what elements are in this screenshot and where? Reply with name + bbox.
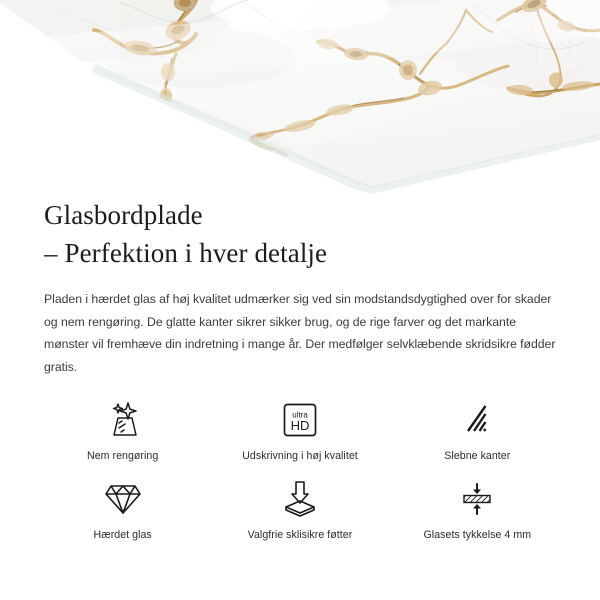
hero-product-image: [0, 0, 600, 200]
ultra-hd-badge-bottom: HD: [291, 418, 310, 433]
feature-item-tempered-glass: Hærdet glas: [34, 478, 211, 558]
feature-item-thickness: Glasets tykkelse 4 mm: [389, 478, 566, 558]
polished-edge-icon: [458, 398, 496, 442]
product-description: Pladen i hærdet glas af høj kvalitet udm…: [0, 288, 600, 378]
feature-item-ultra-hd: ultra HD Udskrivning i høj kvalitet: [211, 398, 388, 478]
feature-item-easy-cleaning: Nem rengøring: [34, 398, 211, 478]
page-title: Glasbordplade – Perfektion i hver detalj…: [0, 196, 600, 272]
glass-tabletop-illustration: [0, 0, 600, 200]
product-copy-block: Glasbordplade – Perfektion i hver detalj…: [0, 196, 600, 378]
feature-grid: Nem rengøring ultra HD Udskrivning i høj…: [34, 398, 566, 558]
thickness-icon: [457, 478, 497, 520]
headline-line-1: Glasbordplade: [44, 200, 203, 230]
feature-label: Nem rengøring: [87, 450, 158, 462]
anti-slip-feet-icon: [280, 478, 320, 520]
feature-label: Glasets tykkelse 4 mm: [424, 529, 532, 541]
feature-label: Udskrivning i høj kvalitet: [242, 450, 358, 462]
sparkle-surface-icon: [103, 398, 143, 442]
diamond-icon: [103, 478, 143, 520]
feature-label: Slebne kanter: [444, 450, 510, 462]
feature-item-polished-edges: Slebne kanter: [389, 398, 566, 478]
feature-item-anti-slip-feet: Valgfrie sklisikre føtter: [211, 478, 388, 558]
feature-label: Hærdet glas: [94, 529, 152, 541]
headline-line-2: – Perfektion i hver detalje: [44, 234, 556, 272]
feature-label: Valgfrie sklisikre føtter: [248, 529, 353, 541]
ultra-hd-icon: ultra HD: [281, 398, 319, 442]
